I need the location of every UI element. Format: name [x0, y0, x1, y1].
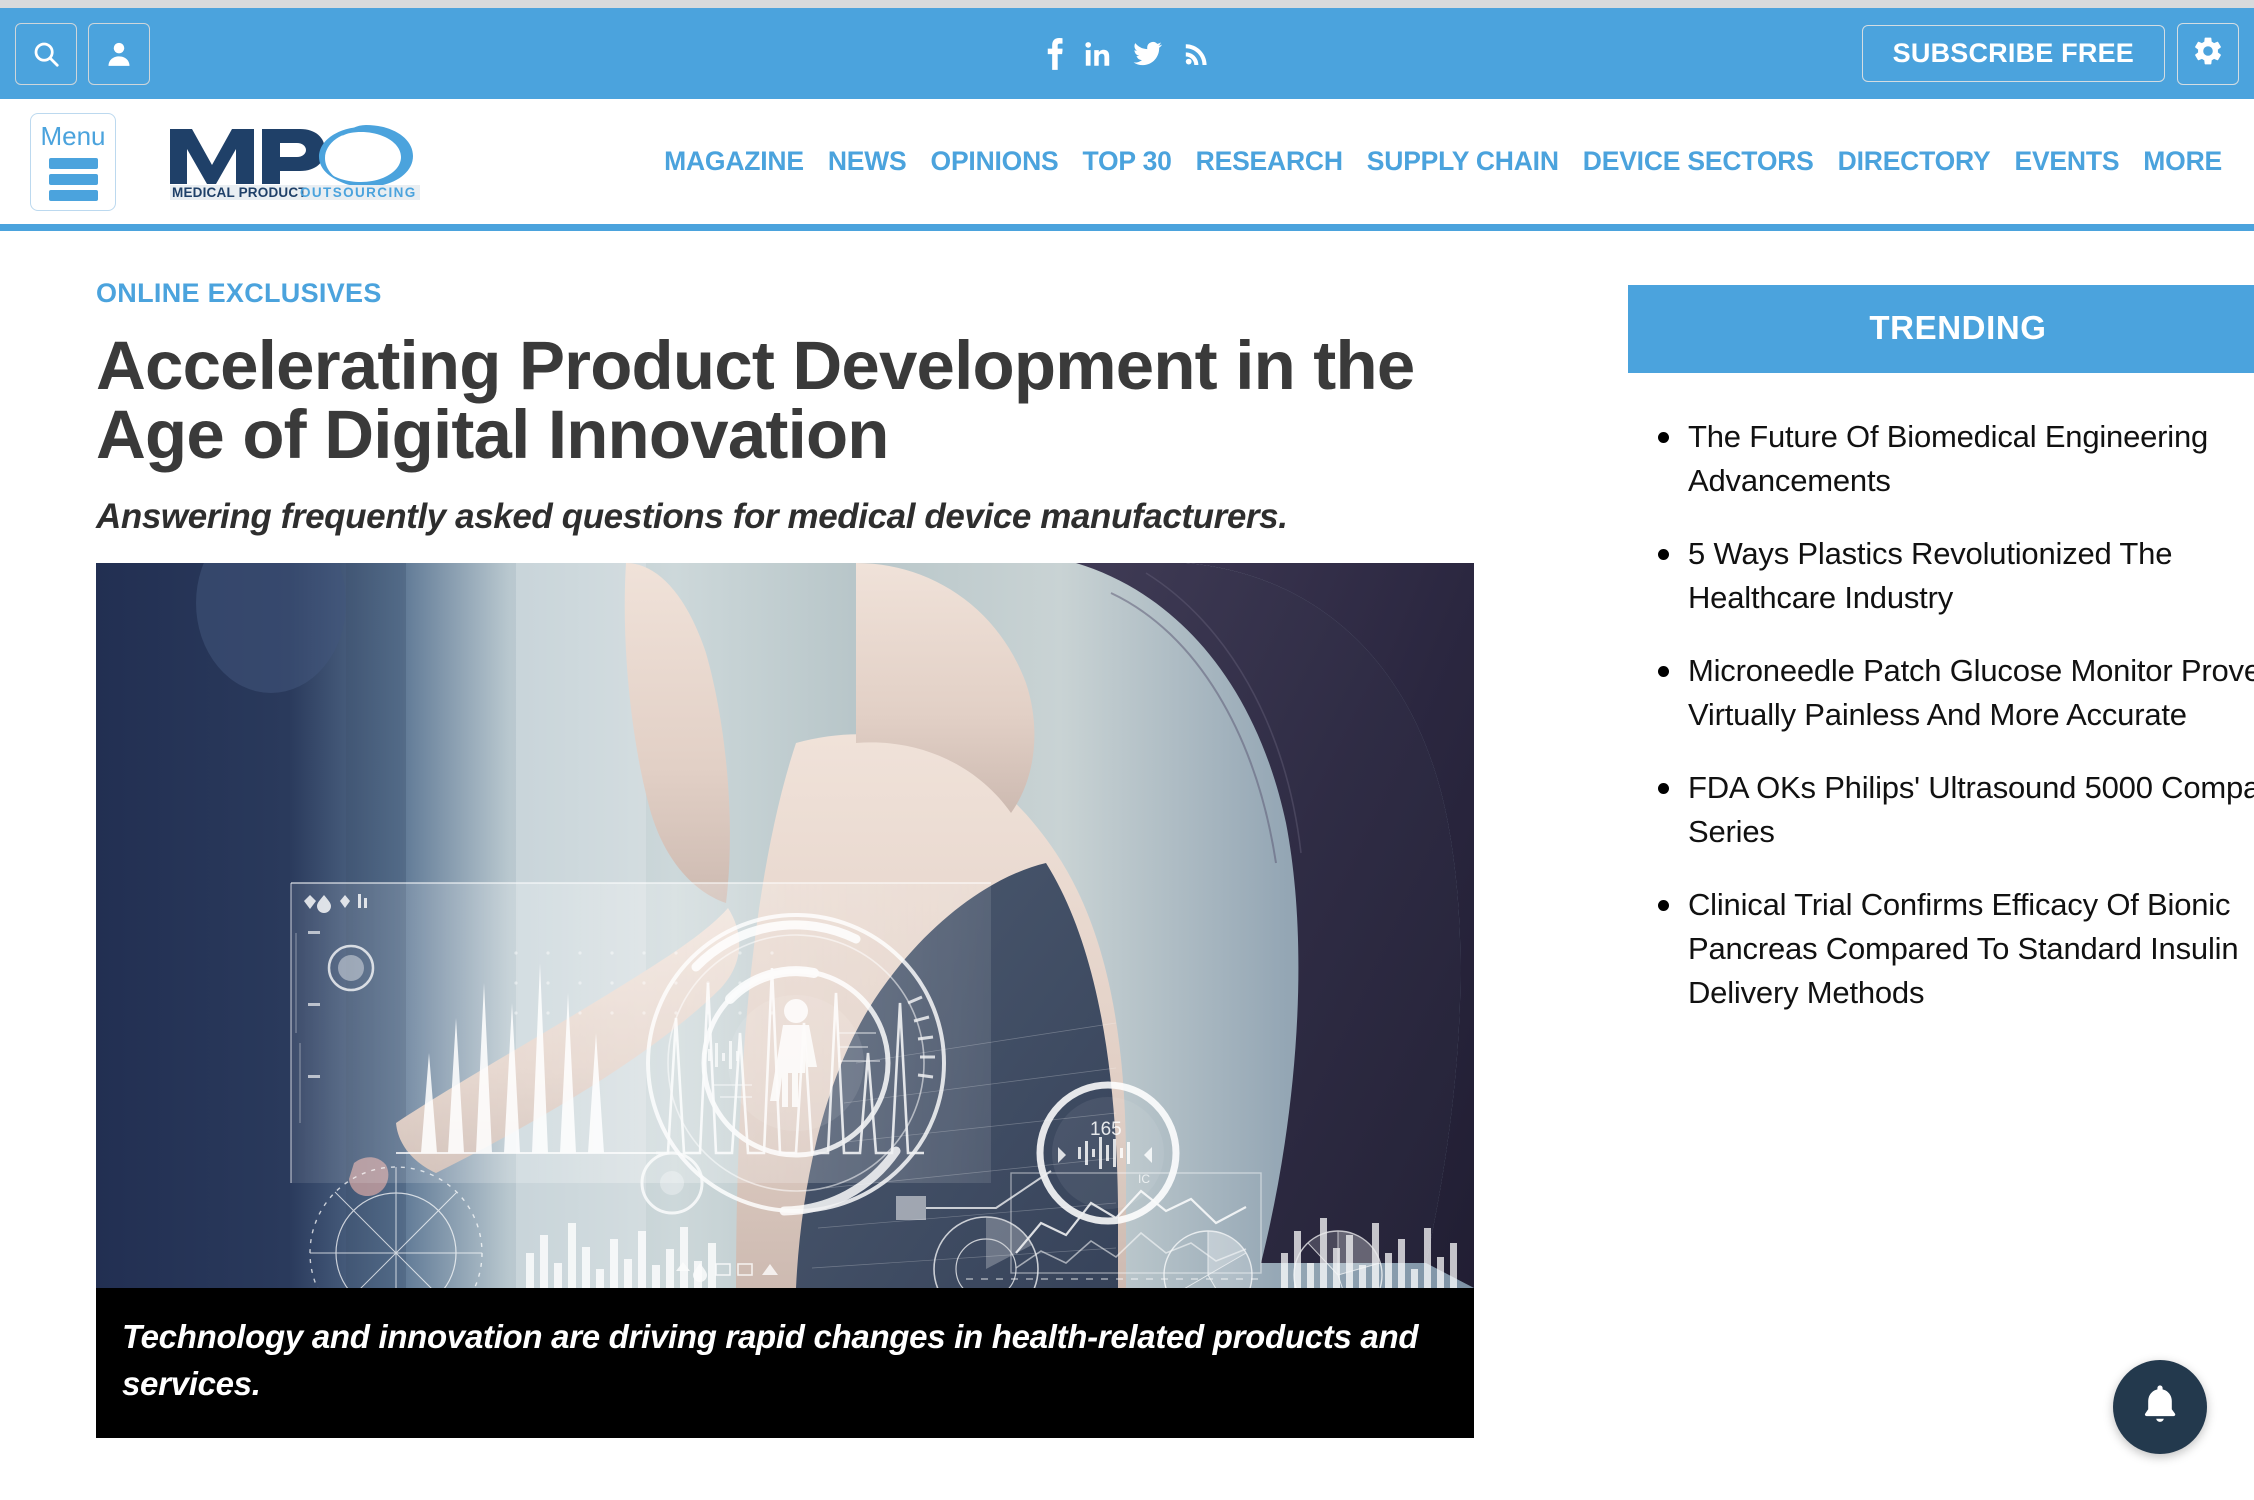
notification-bell-button[interactable]	[2113, 1360, 2207, 1454]
search-button[interactable]	[15, 23, 77, 85]
svg-text:IC: IC	[1138, 1172, 1150, 1186]
nav-item-events[interactable]: EVENTS	[2014, 146, 2119, 177]
nav-item-device-sectors[interactable]: DEVICE SECTORS	[1583, 146, 1814, 177]
twitter-icon[interactable]	[1133, 37, 1163, 71]
linkedin-icon[interactable]	[1085, 37, 1111, 71]
page-content: ONLINE EXCLUSIVES Accelerating Product D…	[0, 231, 2254, 1438]
utility-right-group: SUBSCRIBE FREE	[1862, 23, 2239, 85]
nav-item-news[interactable]: NEWS	[828, 146, 907, 177]
menu-button[interactable]: Menu	[30, 113, 116, 211]
account-button[interactable]	[88, 23, 150, 85]
article-kicker[interactable]: ONLINE EXCLUSIVES	[96, 278, 382, 309]
user-account-icon	[104, 39, 134, 69]
nav-item-magazine[interactable]: MAGAZINE	[664, 146, 804, 177]
trending-item[interactable]: FDA OKs Philips' Ultrasound 5000 Compact…	[1658, 766, 2254, 854]
nav-bottom-divider	[0, 224, 2254, 231]
nav-item-directory[interactable]: DIRECTORY	[1838, 146, 1991, 177]
nav-item-supply-chain[interactable]: SUPPLY CHAIN	[1367, 146, 1559, 177]
social-links	[1046, 37, 1209, 71]
hud-reading-value: 165	[1090, 1119, 1122, 1140]
menu-button-label: Menu	[40, 123, 105, 149]
site-header: Menu MEDICAL PRODUCT OUTSOURCING MEDICAL…	[0, 99, 2254, 224]
hamburger-icon-line	[49, 190, 98, 201]
hamburger-icon-line	[49, 174, 98, 185]
facebook-icon[interactable]	[1046, 37, 1063, 71]
main-navigation: MAGAZINE NEWS OPINIONS TOP 30 RESEARCH S…	[664, 146, 2232, 177]
nav-item-top-30[interactable]: TOP 30	[1083, 146, 1172, 177]
settings-button[interactable]	[2177, 23, 2239, 85]
site-logo[interactable]: MEDICAL PRODUCT OUTSOURCING MEDICAL PROD…	[166, 121, 424, 203]
sidebar: TRENDING The Future Of Biomedical Engine…	[1628, 231, 2254, 1438]
svg-text:MEDICAL PRODUCT: MEDICAL PRODUCT	[172, 185, 307, 200]
gear-icon	[2192, 35, 2224, 72]
hero-image-block: 165 IC	[96, 563, 1474, 1438]
mpo-logo-icon: MEDICAL PRODUCT OUTSOURCING	[166, 121, 424, 203]
hero-image: 165 IC	[96, 563, 1474, 1288]
utility-bar: SUBSCRIBE FREE	[0, 8, 2254, 99]
nav-item-research[interactable]: RESEARCH	[1196, 146, 1343, 177]
article-subhead: Answering frequently asked questions for…	[96, 497, 1478, 537]
hero-image-graphic: 165 IC	[96, 563, 1474, 1288]
nav-item-opinions[interactable]: OPINIONS	[931, 146, 1059, 177]
trending-item[interactable]: The Future Of Biomedical Engineering Adv…	[1658, 415, 2254, 503]
page-title: Accelerating Product Development in the …	[96, 331, 1476, 469]
nav-item-more[interactable]: MORE	[2143, 146, 2222, 177]
trending-header: TRENDING	[1628, 285, 2254, 373]
trending-item[interactable]: 5 Ways Plastics Revolutionized The Healt…	[1658, 532, 2254, 620]
trending-item[interactable]: Microneedle Patch Glucose Monitor Proves…	[1658, 649, 2254, 737]
hero-image-caption: Technology and innovation are driving ra…	[96, 1288, 1474, 1438]
article-column: ONLINE EXCLUSIVES Accelerating Product D…	[96, 231, 1478, 1438]
search-icon	[31, 39, 61, 69]
trending-list: The Future Of Biomedical Engineering Adv…	[1628, 415, 2254, 1015]
svg-text:OUTSOURCING: OUTSOURCING	[300, 185, 417, 200]
notification-bell-icon	[2136, 1381, 2184, 1434]
rss-icon[interactable]	[1185, 37, 1209, 71]
browser-top-strip	[0, 0, 2254, 8]
hamburger-icon-line	[49, 158, 98, 169]
trending-item[interactable]: Clinical Trial Confirms Efficacy Of Bion…	[1658, 883, 2254, 1015]
subscribe-free-button[interactable]: SUBSCRIBE FREE	[1862, 25, 2165, 82]
